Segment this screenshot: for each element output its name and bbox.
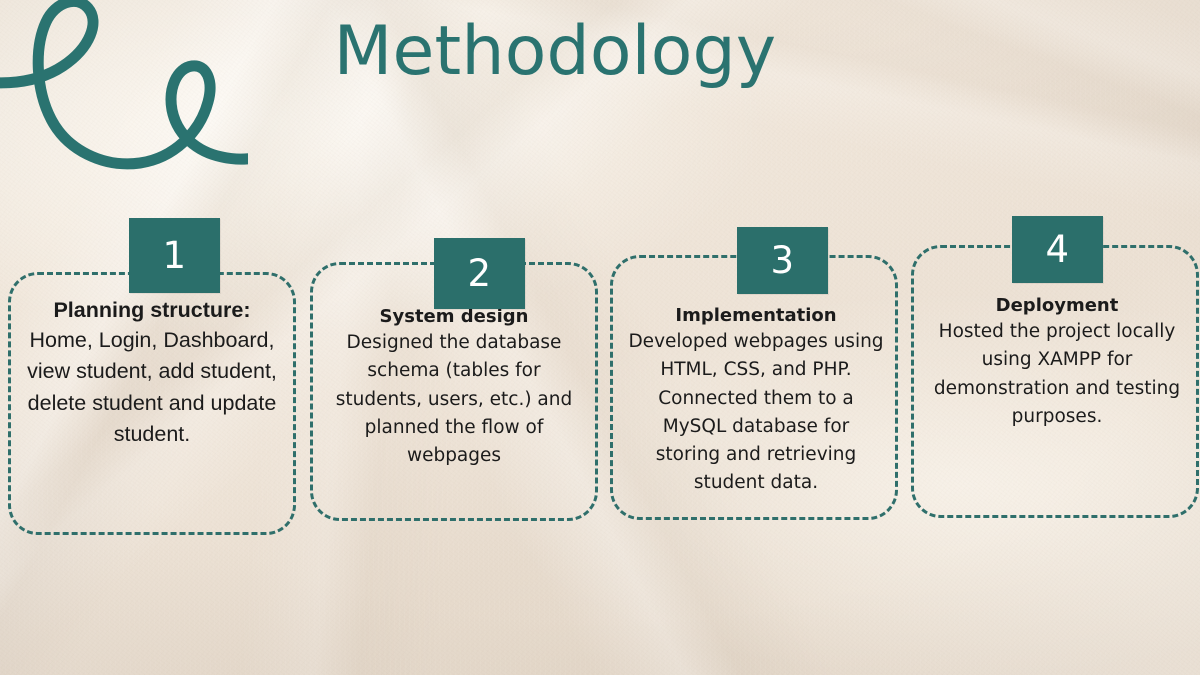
- step-card-2-body: Designed the database schema (tables for…: [326, 329, 582, 470]
- step-card-1-text: Planning structure: Home, Login, Dashboa…: [4, 298, 300, 451]
- step-card-3-text: Implementation Developed webpages using …: [620, 305, 892, 498]
- step-card-3-heading: Implementation: [628, 305, 884, 326]
- step-number-badge-3: 3: [737, 227, 828, 294]
- page-title: Methodology: [0, 16, 1110, 87]
- step-number-badge-1: 1: [129, 218, 220, 293]
- step-number-badge-2: 2: [434, 238, 525, 309]
- step-card-4-body: Hosted the project locally using XAMPP f…: [929, 318, 1185, 431]
- step-number-badge-1-label: 1: [162, 237, 186, 274]
- slide-canvas: Methodology Planning structure: Home, Lo…: [0, 0, 1200, 675]
- step-card-3-body: Developed webpages using HTML, CSS, and …: [628, 328, 884, 498]
- step-number-badge-4: 4: [1012, 216, 1103, 283]
- step-card-2-heading: System design: [326, 306, 582, 327]
- step-number-badge-4-label: 4: [1045, 231, 1069, 268]
- step-card-4-heading: Deployment: [929, 295, 1185, 316]
- step-number-badge-2-label: 2: [467, 255, 491, 292]
- step-card-2-text: System design Designed the database sche…: [318, 306, 590, 470]
- step-card-1-heading: Planning structure:: [12, 298, 292, 323]
- step-card-4-text: Deployment Hosted the project locally us…: [921, 295, 1193, 431]
- step-card-1-body: Home, Login, Dashboard, view student, ad…: [12, 325, 292, 451]
- step-number-badge-3-label: 3: [770, 242, 794, 279]
